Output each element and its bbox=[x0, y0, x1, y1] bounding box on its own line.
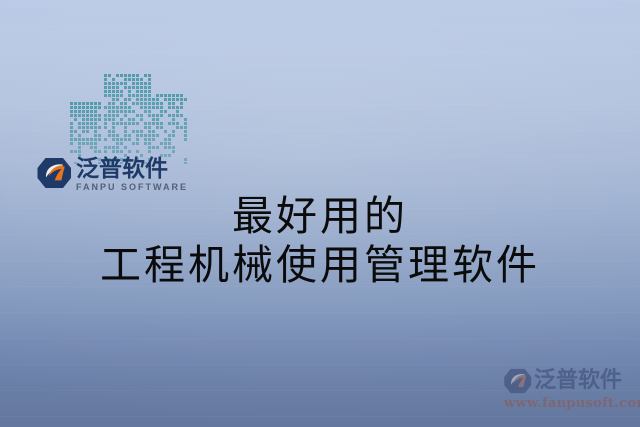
brand-logo: 泛普软件 FANPU SOFTWARE bbox=[36, 157, 188, 193]
brand-logo-text: 泛普软件 FANPU SOFTWARE bbox=[76, 157, 188, 193]
watermark-url: www.fanpusoft.com bbox=[504, 396, 640, 412]
watermark-logo-row: 泛普软件 bbox=[503, 368, 640, 394]
headline-line-2: 工程机械使用管理软件 bbox=[0, 241, 640, 290]
fanpu-logo-mark-icon bbox=[36, 157, 72, 189]
headline-line-1: 最好用的 bbox=[0, 192, 640, 241]
pixel-skyline-graphic bbox=[70, 74, 190, 164]
brand-name-cn: 泛普软件 bbox=[76, 157, 188, 181]
watermark-brand-name: 泛普软件 bbox=[534, 368, 622, 393]
watermark: 泛普软件 www.fanpusoft.com bbox=[503, 368, 640, 420]
headline: 最好用的 工程机械使用管理软件 bbox=[0, 192, 640, 290]
promo-banner: 泛普软件 FANPU SOFTWARE 最好用的 工程机械使用管理软件 泛普软件… bbox=[0, 0, 640, 427]
fanpu-watermark-mark-icon bbox=[503, 368, 532, 394]
